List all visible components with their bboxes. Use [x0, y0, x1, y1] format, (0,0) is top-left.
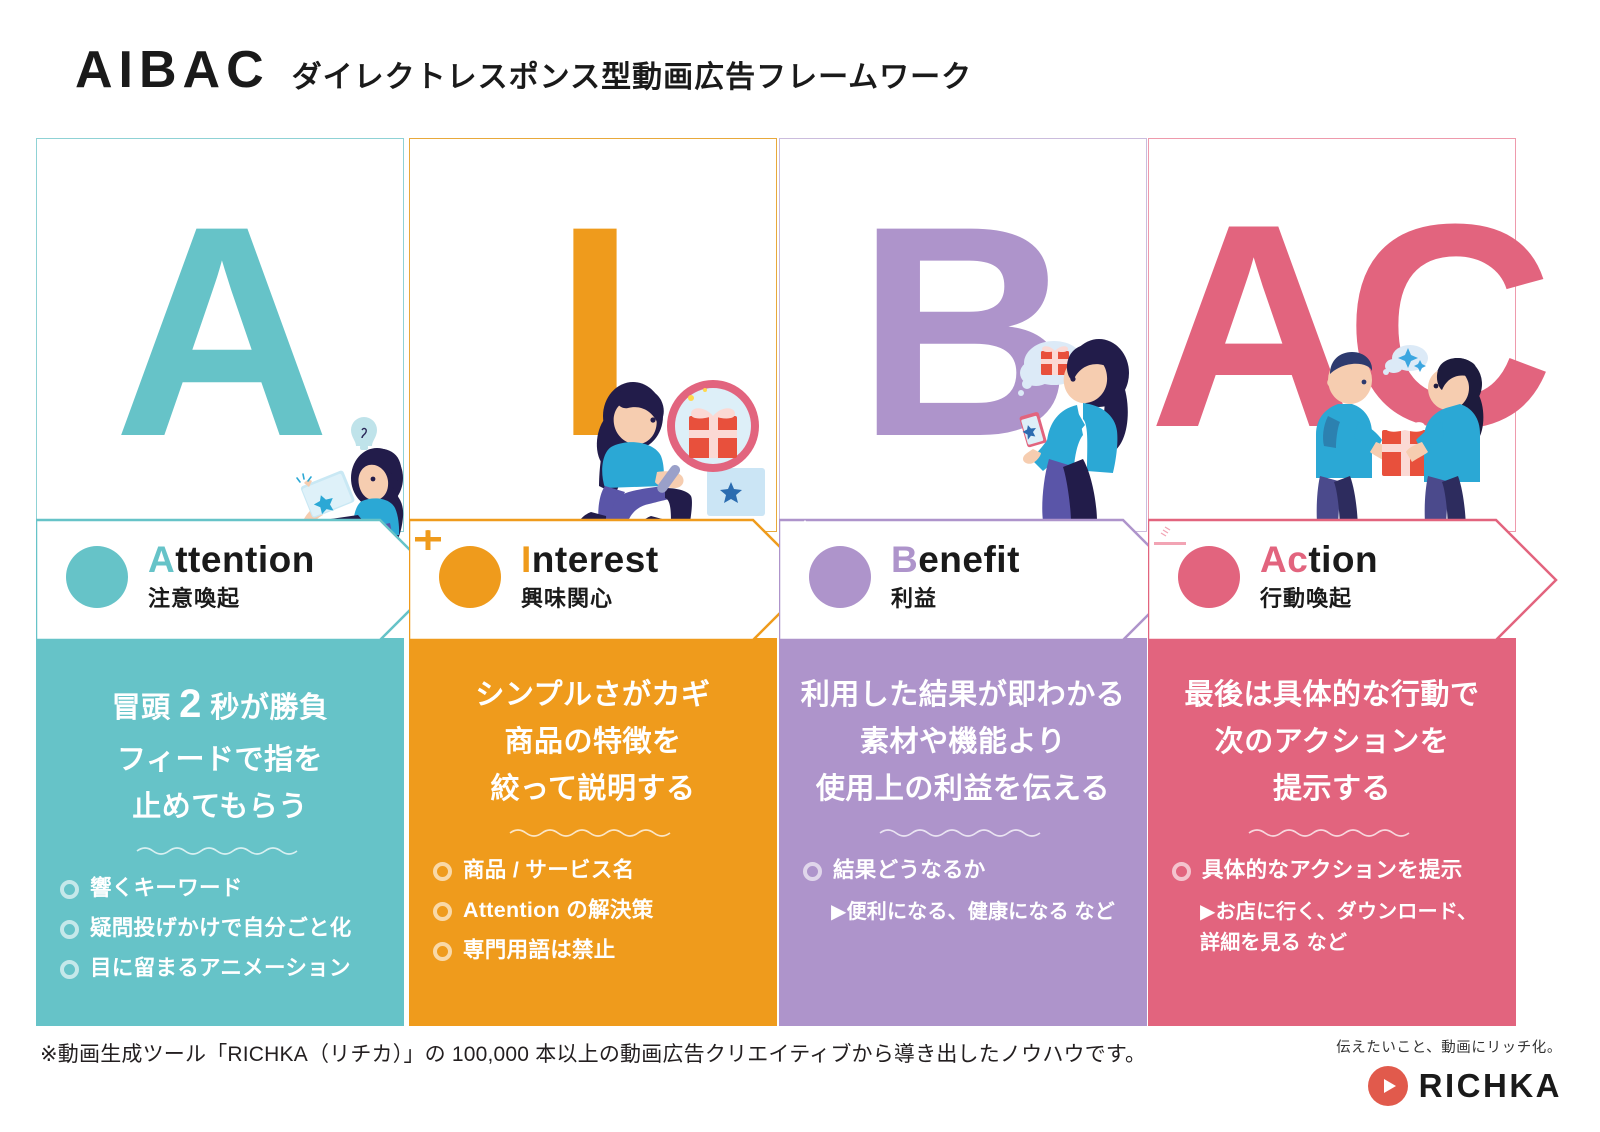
step-banner-benefit[interactable]: Benefit 利益 [779, 516, 1185, 638]
headline-line: 商品の特徴を [427, 719, 759, 766]
framework-step-interest[interactable]: I [409, 138, 777, 1026]
logo-wordmark: RICHKA [1419, 1067, 1562, 1105]
step-bullet-list: 具体的なアクションを提示 ▶お店に行く、ダウンロード、 詳細を見る など [1166, 857, 1498, 959]
step-label-jp: 注意喚起 [148, 581, 315, 613]
headline-line: 止めてもらう [54, 784, 386, 831]
step-bullet-list: 結果どうなるか ▶便利になる、健康になる など [797, 857, 1129, 928]
step-label-en: Benefit [891, 541, 1020, 580]
framework-step-action[interactable]: AC [1148, 138, 1516, 1026]
step-headline: シンプルさがカギ 商品の特徴を 絞って説明する [427, 672, 759, 813]
list-item: 目に留まるアニメーション [60, 955, 380, 983]
step-label-jp: 利益 [891, 581, 1020, 613]
bullet-ring-icon [433, 862, 452, 881]
step-label-en-rest: tion [1308, 539, 1378, 580]
richka-logo-block[interactable]: 伝えたいこと、動画にリッチ化。 RICHKA [1336, 1036, 1562, 1106]
headline-line: 最後は具体的な行動で [1166, 672, 1498, 719]
step-label-jp: 行動喚起 [1260, 581, 1378, 613]
step-banner-interest[interactable]: Interest 興味関心 [409, 516, 815, 638]
step-content-action: 最後は具体的な行動で 次のアクションを 提示する 具体的なアクションを提示 ▶お… [1148, 638, 1516, 1026]
gift-icon [439, 546, 501, 608]
bullet-ring-icon [60, 960, 79, 979]
list-item: Attention の解決策 [433, 897, 753, 925]
play-icon [1368, 1066, 1408, 1106]
step-label-jp: 興味関心 [521, 581, 659, 613]
list-item: 響くキーワード [60, 875, 380, 903]
step-banner-action[interactable]: Action 行動喚起 [1148, 516, 1558, 638]
sneaker-icon [1178, 546, 1240, 608]
headline-line: フィードで指を [54, 737, 386, 784]
wave-divider [878, 827, 1048, 839]
step-content-attention: 冒頭 2 秒が勝負 フィードで指を 止めてもらう 響くキーワード 疑問投げかけで… [36, 638, 404, 1026]
wave-divider [508, 827, 678, 839]
bullet-ring-icon [803, 862, 822, 881]
list-item: 商品 / サービス名 [433, 857, 753, 885]
bullet-ring-icon [433, 942, 452, 961]
bar-chart-arrow-icon [809, 546, 871, 608]
step-content-interest: シンプルさがカギ 商品の特徴を 絞って説明する 商品 / サービス名 Atten… [409, 638, 777, 1026]
step-label-en: Action [1260, 541, 1378, 580]
list-item: 結果どうなるか [803, 857, 1123, 885]
step-headline: 冒頭 2 秒が勝負 フィードで指を 止めてもらう [54, 672, 386, 831]
bullet-ring-icon [433, 902, 452, 921]
step-banner-attention[interactable]: Attention 注意喚起 [36, 516, 442, 638]
list-item: 具体的なアクションを提示 [1172, 857, 1492, 885]
step-subnote: ▶お店に行く、ダウンロード、 詳細を見る など [1172, 897, 1492, 959]
headline-line: 提示する [1166, 766, 1498, 813]
headline-line: 絞って説明する [427, 766, 759, 813]
step-label-en-rest: enefit [918, 539, 1020, 580]
logo-tagline: 伝えたいこと、動画にリッチ化。 [1336, 1036, 1562, 1057]
wave-divider [135, 845, 305, 857]
page-header: AIBAC ダイレクトレスポンス型動画広告フレームワーク [75, 44, 972, 96]
step-subnote: ▶便利になる、健康になる など [803, 897, 1123, 928]
step-label-en-rest: ttention [175, 539, 315, 580]
step-headline: 利用した結果が即わかる 素材や機能より 使用上の利益を伝える [797, 672, 1129, 813]
step-label-en-highlight: B [891, 539, 918, 580]
step-bullet-list: 商品 / サービス名 Attention の解決策 専門用語は禁止 [427, 857, 759, 965]
headline-line: 冒頭 2 秒が勝負 [54, 672, 386, 737]
step-label-en-highlight: Ac [1260, 539, 1308, 580]
bullet-ring-icon [60, 880, 79, 899]
step-headline: 最後は具体的な行動で 次のアクションを 提示する [1166, 672, 1498, 813]
step-label-en-highlight: I [521, 539, 532, 580]
step-label-en-rest: nterest [532, 539, 659, 580]
headline-line: 素材や機能より [797, 719, 1129, 766]
framework-step-attention[interactable]: A [36, 138, 404, 1026]
framework-columns: A [0, 138, 1600, 1026]
two-people-gift-exchange-illustration [1298, 338, 1508, 538]
headline-line: 次のアクションを [1166, 719, 1498, 766]
step-label-en-highlight: A [148, 539, 175, 580]
list-item: 疑問投げかけで自分ごと化 [60, 915, 380, 943]
bullet-ring-icon [1172, 862, 1191, 881]
exclamation-icon [66, 546, 128, 608]
headline-line: 使用上の利益を伝える [797, 766, 1129, 813]
step-label-en: Interest [521, 541, 659, 580]
wave-divider [1247, 827, 1417, 839]
bullet-ring-icon [60, 920, 79, 939]
step-label-en: Attention [148, 541, 315, 580]
headline-line: 利用した結果が即わかる [797, 672, 1129, 719]
step-content-benefit: 利用した結果が即わかる 素材や機能より 使用上の利益を伝える 結果どうなるか ▶… [779, 638, 1147, 1026]
page-subtitle: ダイレクトレスポンス型動画広告フレームワーク [292, 63, 973, 93]
step-bullet-list: 響くキーワード 疑問投げかけで自分ごと化 目に留まるアニメーション [54, 875, 386, 983]
page-title: AIBAC [75, 44, 270, 96]
headline-line: シンプルさがカギ [427, 672, 759, 719]
framework-step-benefit[interactable]: B [779, 138, 1147, 1026]
list-item: 専門用語は禁止 [433, 937, 753, 965]
footnote: ※動画生成ツール「RICHKA（リチカ）」の 100,000 本以上の動画広告ク… [40, 1038, 1146, 1068]
